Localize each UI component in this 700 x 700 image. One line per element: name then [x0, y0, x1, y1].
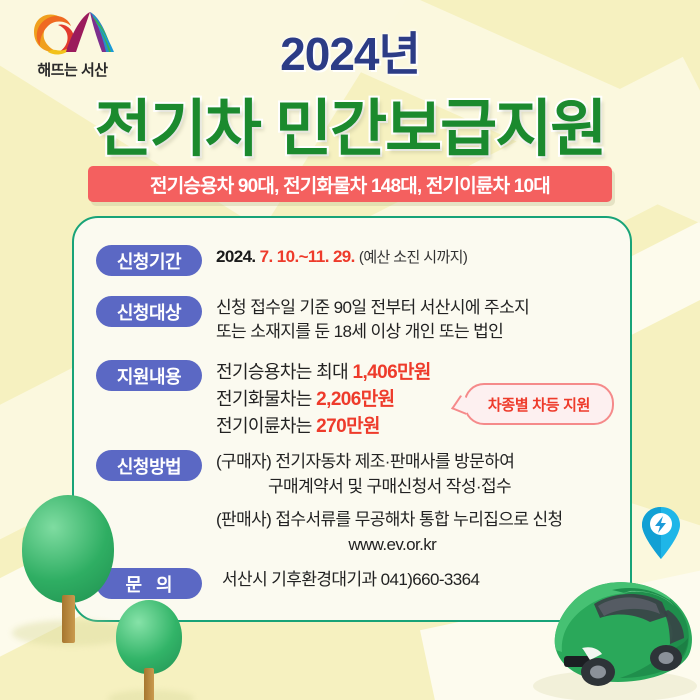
tree-icon — [116, 600, 182, 674]
support-item: 전기이륜차는 270만원 — [216, 414, 431, 441]
row-application-period: 신청기간 2024. 7. 10.~11. 29. (예산 소진 시까지) — [96, 245, 467, 276]
badge-application-method: 신청방법 — [96, 450, 202, 481]
support-vehicle-label: 전기이륜차는 — [216, 416, 316, 436]
badge-eligibility: 신청대상 — [96, 296, 202, 327]
quota-banner: 전기승용차 90대, 전기화물차 148대, 전기이륜차 10대 — [88, 166, 612, 202]
title-main: 전기차 민간보급지원 — [0, 78, 700, 168]
method-url[interactable]: www.ev.or.kr — [216, 533, 563, 558]
quota-banner-text: 전기승용차 90대, 전기화물차 148대, 전기이륜차 10대 — [150, 171, 550, 198]
support-vehicle-label: 전기승용차는 최대 — [216, 362, 352, 382]
row-inquiry: 문의 서산시 기후환경대기과 041)660-3364 — [96, 568, 479, 599]
support-vehicle-label: 전기화물차는 — [216, 389, 316, 409]
poster-root: 해뜨는 서산 2024년 전기차 민간보급지원 전기승용차 90대, 전기화물차… — [0, 0, 700, 700]
method-line-2: 구매계약서 및 구매신청서 작성·접수 — [216, 475, 563, 500]
period-prefix: 2024. — [216, 247, 256, 266]
badge-application-period: 신청기간 — [96, 245, 202, 276]
tree-icon — [22, 495, 114, 603]
speech-bubble-differential-support: 차종별 차등 지원 — [464, 383, 614, 425]
period-dates: 7. 10.~11. 29. — [260, 247, 355, 266]
speech-bubble-text: 차종별 차등 지원 — [488, 394, 590, 415]
method-line-1: (구매자) 전기자동차 제조·판매사를 방문하여 — [216, 452, 514, 471]
badge-support-content: 지원내용 — [96, 360, 202, 391]
eligibility-value: 신청 접수일 기준 90일 전부터 서산시에 주소지 또는 소재지를 둔 18세… — [216, 296, 529, 344]
row-support-content: 지원내용 전기승용차는 최대 1,406만원 전기화물차는 2,206만원 전기… — [96, 360, 431, 441]
support-content-value: 전기승용차는 최대 1,406만원 전기화물차는 2,206만원 전기이륜차는 … — [216, 360, 431, 441]
support-amount: 270만원 — [316, 416, 380, 437]
charging-station-pin-icon — [640, 505, 682, 561]
inquiry-value: 서산시 기후환경대기과 041)660-3364 — [222, 568, 479, 592]
eligibility-line-2: 또는 소재지를 둔 18세 이상 개인 또는 법인 — [216, 322, 503, 341]
electric-car-illustration — [520, 560, 700, 700]
period-note: (예산 소진 시까지) — [359, 249, 467, 266]
support-amount: 1,406만원 — [352, 362, 430, 383]
application-method-value: (구매자) 전기자동차 제조·판매사를 방문하여 구매계약서 및 구매신청서 작… — [216, 450, 563, 558]
support-item: 전기승용차는 최대 1,406만원 — [216, 360, 431, 387]
application-period-value: 2024. 7. 10.~11. 29. (예산 소진 시까지) — [216, 245, 467, 269]
row-application-method: 신청방법 (구매자) 전기자동차 제조·판매사를 방문하여 구매계약서 및 구매… — [96, 450, 563, 558]
eligibility-line-1: 신청 접수일 기준 90일 전부터 서산시에 주소지 — [216, 298, 529, 317]
support-item: 전기화물차는 2,206만원 — [216, 387, 431, 414]
support-amount: 2,206만원 — [316, 389, 394, 410]
title-year: 2024년 — [0, 18, 700, 84]
method-line-3: (판매사) 접수서류를 무공해차 통합 누리집으로 신청 — [216, 508, 563, 533]
row-eligibility: 신청대상 신청 접수일 기준 90일 전부터 서산시에 주소지 또는 소재지를 … — [96, 296, 529, 344]
